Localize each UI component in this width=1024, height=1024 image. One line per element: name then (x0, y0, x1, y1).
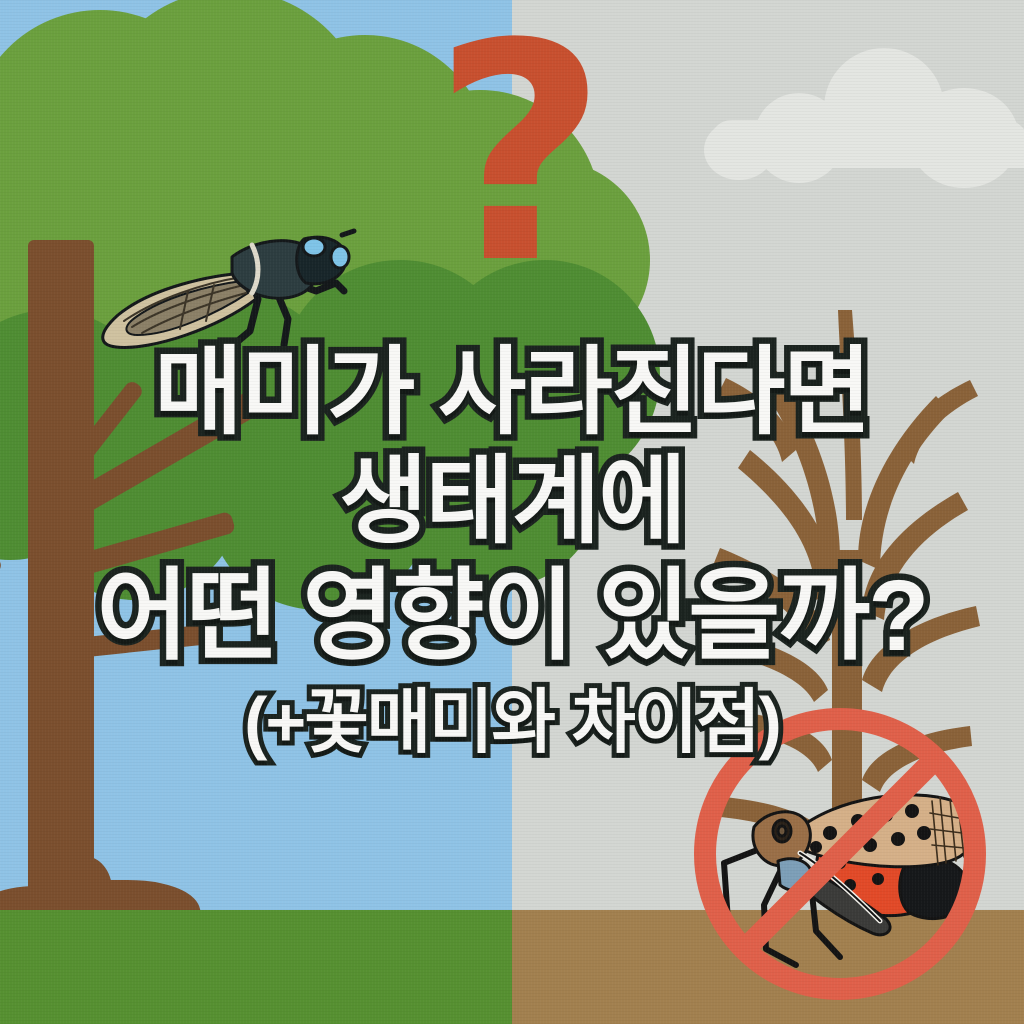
question-mark-icon: ? (430, 40, 610, 300)
headline-block: 매미가 사라진다면 생태계에 어떤 영향이 있을까? (+꽃매미와 차이점) (0, 340, 1024, 770)
cloud-icon (704, 48, 1024, 168)
headline-line-1: 매미가 사라진다면 (0, 340, 1024, 446)
headline-subtitle: (+꽃매미와 차이점) (0, 674, 1024, 770)
ground-left (0, 910, 512, 1024)
poster-canvas: ? (0, 0, 1024, 1024)
headline-line-2: 생태계에 (0, 446, 1024, 558)
headline-line-3: 어떤 영향이 있을까? (0, 558, 1024, 674)
